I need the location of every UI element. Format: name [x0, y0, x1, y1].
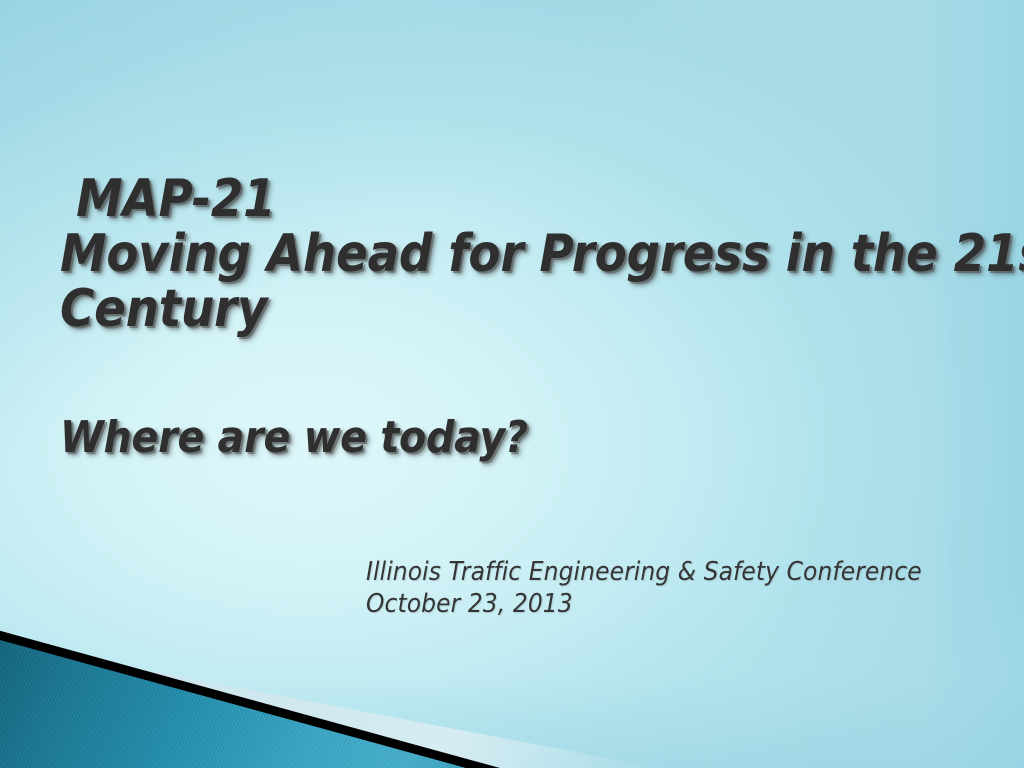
- title-line-1: MAP-21: [60, 172, 960, 227]
- conference-name: Illinois Traffic Engineering & Safety Co…: [366, 556, 1006, 588]
- slide-title: MAP-21 Moving Ahead for Progress in the …: [60, 172, 960, 337]
- conference-date: October 23, 2013: [366, 588, 1006, 620]
- slide-subtitle: Where are we today?: [60, 412, 960, 464]
- background-gradient-bottom: [0, 0, 1024, 768]
- subtitle-question: Where are we today?: [60, 412, 960, 464]
- title-slide: MAP-21 Moving Ahead for Progress in the …: [0, 0, 1024, 768]
- title-line-2: Moving Ahead for Progress in the 21st: [60, 227, 960, 282]
- title-line-3: Century: [60, 282, 960, 337]
- slide-credits: Illinois Traffic Engineering & Safety Co…: [366, 556, 1006, 620]
